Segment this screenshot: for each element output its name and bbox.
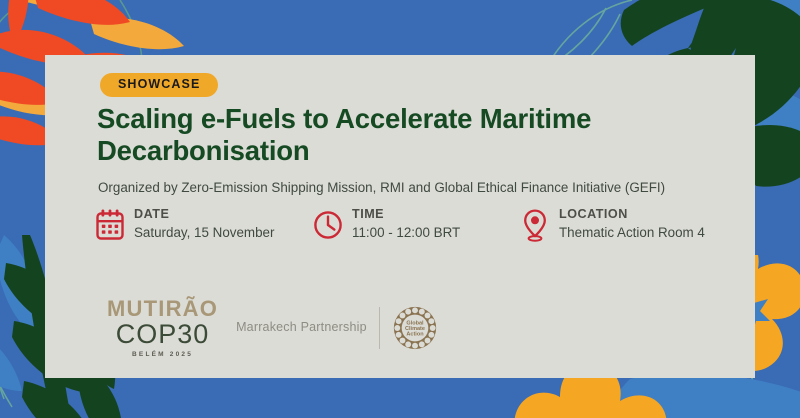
meta-item-location: LOCATION Thematic Action Room 4	[520, 207, 705, 243]
logo-strip: MUTIRÃO COP30 BELÉM 2025 Marrakech Partn…	[107, 298, 438, 359]
location-pin-icon	[520, 208, 550, 242]
meta-value-time: 11:00 - 12:00 BRT	[352, 223, 460, 243]
marrakech-line-2: Partnership	[301, 320, 367, 334]
mutirao-wordmark: MUTIRÃO	[107, 298, 218, 320]
meta-item-time: TIME 11:00 - 12:00 BRT	[313, 207, 460, 243]
meta-value-location: Thematic Action Room 4	[559, 223, 705, 243]
marrakech-partnership-logo: Marrakech Partnership	[236, 305, 438, 351]
showcase-badge: SHOWCASE	[100, 73, 218, 97]
cop30-logo: MUTIRÃO COP30 BELÉM 2025	[107, 298, 218, 359]
belem-wordmark: BELÉM 2025	[132, 352, 193, 359]
page-title: Scaling e-Fuels to Accelerate Maritime D…	[97, 103, 717, 167]
event-meta-row: DATE Saturday, 15 November TIME 11:00 - …	[95, 207, 755, 267]
global-climate-action-emblem: Global Climate Action	[392, 305, 438, 351]
marrakech-partnership-text: Marrakech Partnership	[236, 320, 367, 336]
cop30-wordmark: COP30	[116, 321, 210, 348]
event-card: SHOWCASE Scaling e-Fuels to Accelerate M…	[45, 55, 755, 378]
emblem-line-3: Action	[406, 332, 424, 338]
meta-item-date: DATE Saturday, 15 November	[95, 207, 274, 243]
meta-label-time: TIME	[352, 207, 460, 223]
event-banner: SHOWCASE Scaling e-Fuels to Accelerate M…	[0, 0, 800, 418]
meta-label-location: LOCATION	[559, 207, 705, 223]
calendar-icon	[95, 208, 125, 242]
organizers-text: Organized by Zero-Emission Shipping Miss…	[98, 179, 748, 196]
logo-divider	[379, 307, 380, 349]
clock-icon	[313, 208, 343, 242]
meta-value-date: Saturday, 15 November	[134, 223, 274, 243]
meta-label-date: DATE	[134, 207, 274, 223]
marrakech-line-1: Marrakech	[236, 320, 297, 334]
